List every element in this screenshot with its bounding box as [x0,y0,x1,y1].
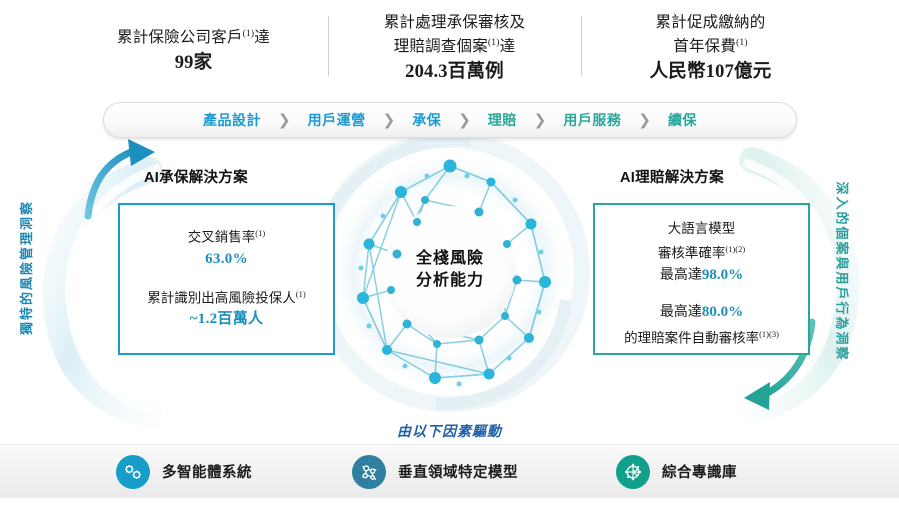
kpi-cases: 累計處理承保審核及 理賠調查個案(1)達 204.3百萬例 [329,8,581,84]
metric-llm-label-2: 審核準確率(1)(2) [603,239,800,264]
kpi-customers: 累計保險公司客戶(1)達 99家 [60,8,328,75]
kpi-cases-value: 204.3百萬例 [355,60,555,84]
metric-cross-sell-label: 交叉銷售率(1) [128,223,325,248]
pipeline-step-user-service[interactable]: 用戶服務 [556,110,628,130]
kpi-premium-value: 人民幣107億元 [608,60,814,84]
network-nodes [339,148,561,394]
metric-auto-audit-label: 的理賠案件自動審核率(1)(3) [603,324,800,349]
kpi-premium: 累計促成繳納的 首年保費(1) 人民幣107億元 [582,8,840,84]
chevron-right-icon: ❯ [524,113,557,128]
domain-model-icon [352,455,386,489]
pipeline-step-product-design[interactable]: 產品設計 [196,110,268,130]
pipeline-step-user-operations[interactable]: 用戶運營 [301,110,373,130]
value-chain-pipeline: 產品設計 ❯ 用戶運營 ❯ 承保 ❯ 理賠 ❯ 用戶服務 ❯ 續保 [103,102,797,138]
pipeline-step-renewal[interactable]: 續保 [661,110,704,130]
metric-cross-sell-value: 63.0% [128,248,325,270]
kpi-premium-label-1: 累計促成繳納的 [608,12,814,33]
chevron-right-icon: ❯ [448,113,481,128]
chevron-right-icon: ❯ [373,113,406,128]
metric-high-risk-value: ~1.2百萬人 [128,308,325,330]
metric-auto-audit-value: 最高達80.0% [603,301,800,324]
multi-agent-icon [116,455,150,489]
metric-high-risk-label: 累計識別出高風險投保人(1) [128,284,325,309]
kpi-row: 累計保險公司客戶(1)達 99家 累計處理承保審核及 理賠調查個案(1)達 20… [0,8,899,94]
pipeline-step-underwriting[interactable]: 承保 [405,110,448,130]
kpi-customers-value: 99家 [86,51,302,75]
enabler-domain-model[interactable]: 垂直領域特定模型 [352,455,518,489]
kpi-premium-label-2: 首年保費(1) [608,33,814,57]
metric-llm-label-1: 大語言模型 [603,219,800,239]
driven-by-caption: 由以下因素驅動 [0,421,899,441]
enabler-domain-model-label: 垂直領域特定模型 [398,461,518,482]
left-side-caption: 獨特的風險管理洞察 [16,200,35,335]
enablers-bar: 多智能體系統 垂直領域特定模型 [0,444,899,498]
left-section-title: AI承保解決方案 [144,166,248,187]
kpi-customers-label: 累計保險公司客戶(1)達 [86,24,302,48]
metric-llm-accuracy: 最高達98.0% [603,264,800,287]
infographic-root: 累計保險公司客戶(1)達 99家 累計處理承保審核及 理賠調查個案(1)達 20… [0,0,899,514]
center-network-graphic: 全棧風險 分析能力 [339,148,561,394]
chevron-right-icon: ❯ [628,113,661,128]
enabler-knowledge-base[interactable]: 綜合專識庫 [616,455,737,489]
underwriting-metrics-card: 交叉銷售率(1) 63.0% 累計識別出高風險投保人(1) ~1.2百萬人 [118,203,335,355]
knowledge-base-icon [616,455,650,489]
enabler-multi-agent-label: 多智能體系統 [162,461,252,482]
right-section-title: AI理賠解決方案 [620,166,724,187]
right-side-caption: 深入的個案與用戶行為洞察 [834,181,853,361]
kpi-cases-label-2: 理賠調查個案(1)達 [355,33,555,57]
pipeline-step-claims[interactable]: 理賠 [481,110,524,130]
enabler-knowledge-base-label: 綜合專識庫 [662,461,737,482]
claims-metrics-card: 大語言模型 審核準確率(1)(2) 最高達98.0% 最高達80.0% 的理賠案… [593,203,810,355]
kpi-cases-label-1: 累計處理承保審核及 [355,12,555,33]
enabler-multi-agent[interactable]: 多智能體系統 [116,455,252,489]
chevron-right-icon: ❯ [268,113,301,128]
